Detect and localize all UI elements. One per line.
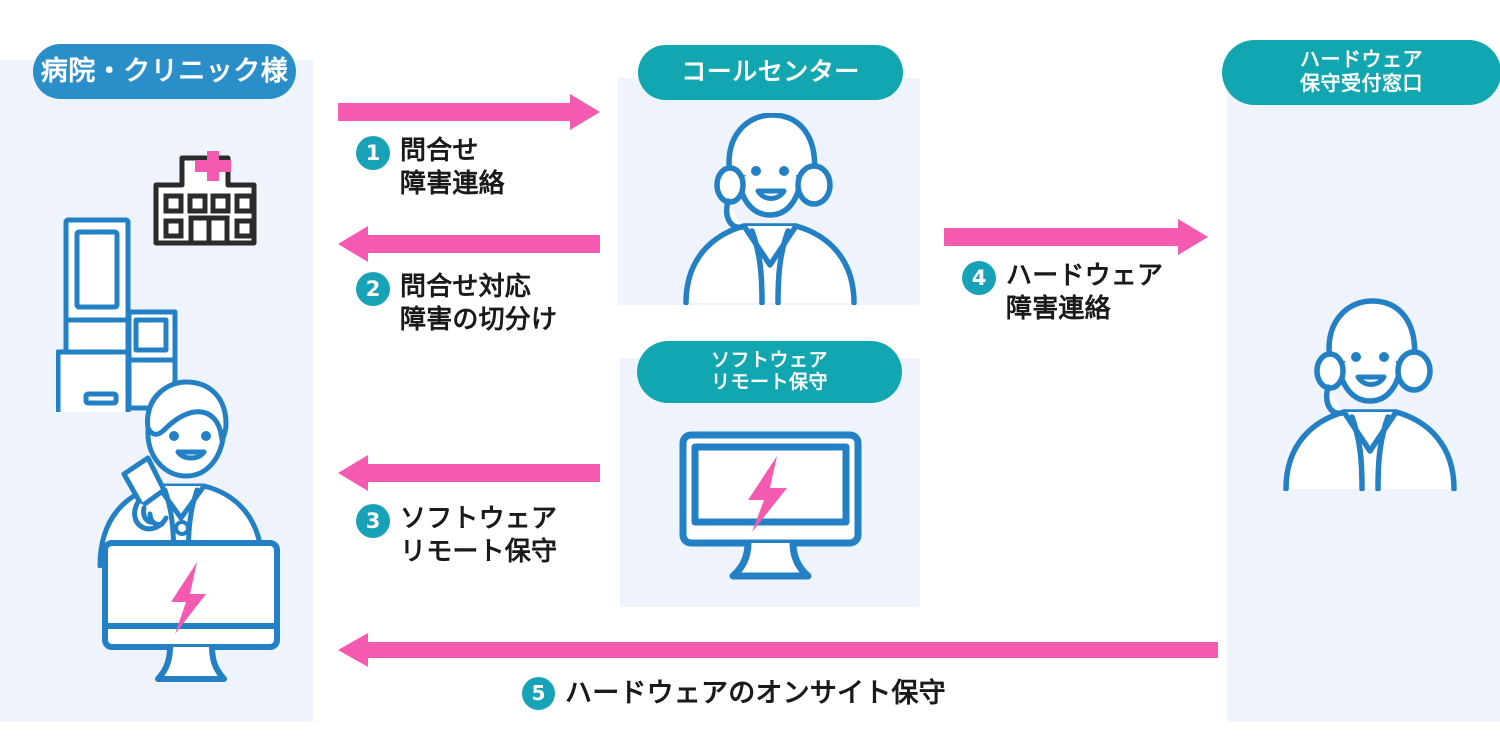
- step-label: ハードウェアのオンサイト保守: [565, 676, 946, 710]
- arrow-callcenter-to-hospital: [338, 226, 600, 262]
- step-label: ソフトウェア リモート保守: [400, 502, 557, 568]
- arrow-software-to-hospital: [338, 455, 600, 491]
- label-software-remote: ソフトウェア リモート保守: [637, 341, 902, 403]
- pill-text-line1: ソフトウェア: [711, 350, 828, 372]
- label-call-center: コールセンター: [638, 45, 903, 100]
- step-4: 4 ハードウェア 障害連絡: [962, 261, 1163, 325]
- step-label: 問合せ 障害連絡: [400, 134, 505, 200]
- monitor-bolt-icon: [100, 538, 282, 684]
- arrow-hospital-to-callcenter: [338, 94, 600, 130]
- pill-text-line2: 保守受付窓口: [1300, 73, 1423, 97]
- operator-headset-icon: [1272, 293, 1468, 491]
- step-2: 2 問合せ対応 障害の切分け: [356, 272, 557, 336]
- pill-text-line2: リモート保守: [711, 372, 828, 394]
- step-1: 1 問合せ 障害連絡: [356, 136, 505, 200]
- step-label: ハードウェア 障害連絡: [1006, 259, 1163, 325]
- pill-text: コールセンター: [681, 58, 860, 88]
- step-3: 3 ソフトウェア リモート保守: [356, 504, 557, 568]
- step-number-badge: 2: [356, 272, 390, 306]
- step-number-badge: 1: [356, 136, 390, 170]
- monitor-bolt-icon: [678, 430, 863, 580]
- step-number-badge: 3: [356, 504, 390, 538]
- label-hardware-desk: ハードウェア 保守受付窓口: [1222, 40, 1500, 105]
- pill-text-line1: ハードウェア: [1300, 49, 1423, 73]
- label-hospital-clinic: 病院・クリニック様: [33, 44, 296, 99]
- arrow-hardware-to-hospital: [338, 633, 1218, 667]
- operator-headset-icon: [672, 113, 868, 305]
- step-label: 問合せ対応 障害の切分け: [400, 270, 557, 336]
- step-5: 5 ハードウェアのオンサイト保守: [522, 676, 946, 710]
- step-number-badge: 5: [522, 677, 555, 710]
- step-number-badge: 4: [962, 261, 996, 295]
- diagram-canvas: 病院・クリニック様 コールセンター ソフトウェア リモート保守 ハードウェア 保…: [0, 0, 1500, 752]
- pill-text: 病院・クリニック様: [41, 56, 289, 88]
- arrow-callcenter-to-hardware: [944, 219, 1208, 255]
